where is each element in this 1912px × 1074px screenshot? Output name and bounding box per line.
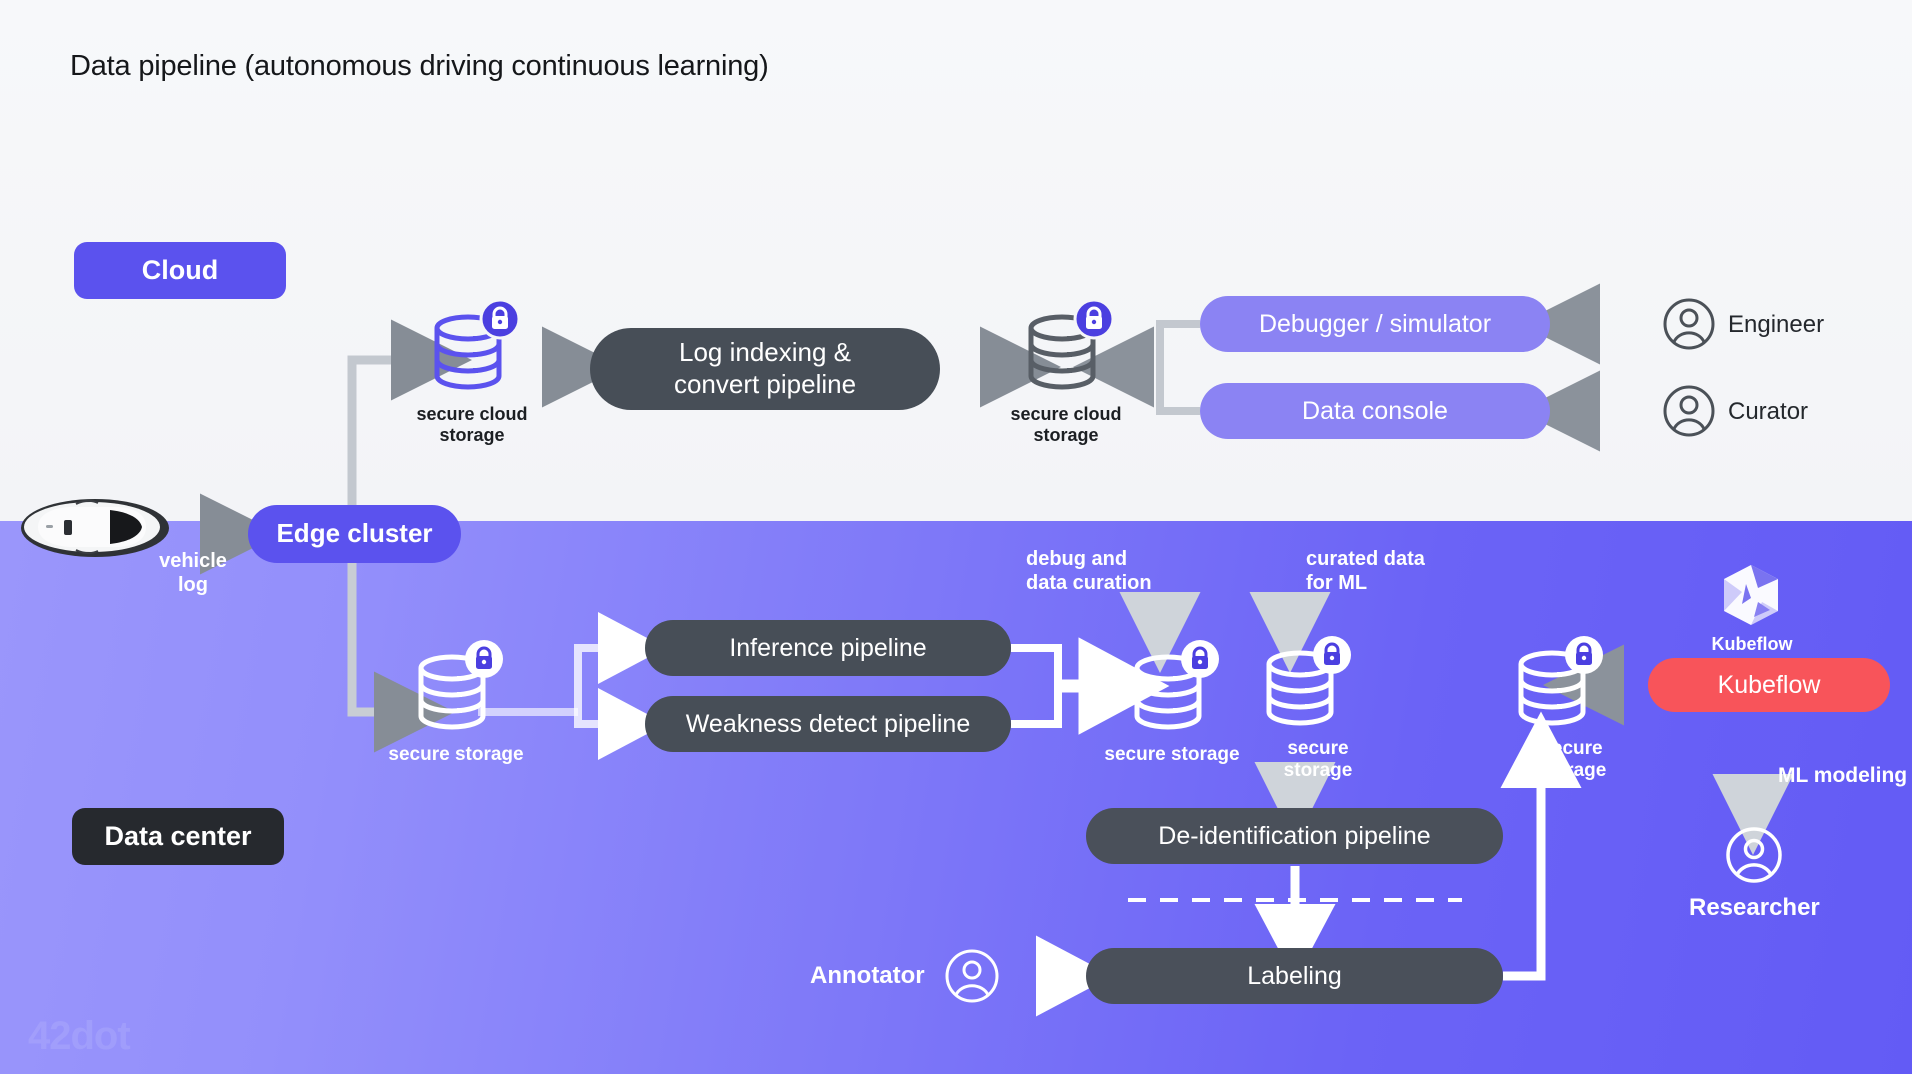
edge-label-debug-curation: debug and data curation [1026,548,1152,595]
label-secure-storage-curated: secure storage [1243,738,1393,782]
node-log-indexing-pipeline[interactable]: Log indexing & convert pipeline [590,328,940,410]
kubeflow-logo-label: Kubeflow [1662,634,1842,655]
diagram-canvas: Data pipeline (autonomous driving contin… [0,0,1912,1074]
node-deidentification-pipeline[interactable]: De-identification pipeline [1086,808,1503,864]
label-secure-storage-edge: secure storage [356,744,556,766]
edge-label-curated-for-ml: curated data for ML [1306,548,1425,595]
label-secure-cloud-storage-2: secure cloud storage [976,404,1156,446]
node-debugger-simulator[interactable]: Debugger / simulator [1200,296,1550,352]
node-weakness-detect-pipeline[interactable]: Weakness detect pipeline [645,696,1011,752]
node-secure-storage-debug: secure storage [1124,640,1220,740]
node-labeling[interactable]: Labeling [1086,948,1503,1004]
node-secure-storage-ml: secure storage [1508,636,1604,736]
node-edge-cluster[interactable]: Edge cluster [248,505,461,563]
curator-person-icon [1662,384,1716,438]
engineer-label: Engineer [1728,311,1824,339]
vehicle-log-label: vehicle log [148,550,238,597]
curator-label: Curator [1728,398,1808,426]
node-secure-cloud-storage-2: secure cloud storage [1018,300,1114,400]
label-secure-cloud-storage-1: secure cloud storage [387,404,557,446]
node-data-console[interactable]: Data console [1200,383,1550,439]
page-title: Data pipeline (autonomous driving contin… [70,50,769,83]
researcher-label: Researcher [1689,894,1820,922]
node-inference-pipeline[interactable]: Inference pipeline [645,620,1011,676]
annotator-person-icon [944,948,1000,1004]
node-secure-storage-edge: secure storage [408,640,504,740]
annotator-label: Annotator [810,962,925,990]
kubeflow-logo-icon [1718,562,1784,628]
engineer-person-icon [1662,297,1716,351]
node-kubeflow-pill[interactable]: Kubeflow [1648,658,1890,712]
zone-badge-cloud: Cloud [74,242,286,299]
researcher-person-icon [1725,826,1783,884]
node-secure-storage-curated: secure storage [1256,636,1352,736]
label-secure-storage-ml: secure storage [1497,738,1647,782]
edge-label-ml-modeling: ML modeling [1778,764,1907,789]
zone-badge-datacenter: Data center [72,808,284,865]
node-secure-cloud-storage-1: secure cloud storage [424,300,520,400]
watermark-logo: 42dot [28,1014,130,1059]
